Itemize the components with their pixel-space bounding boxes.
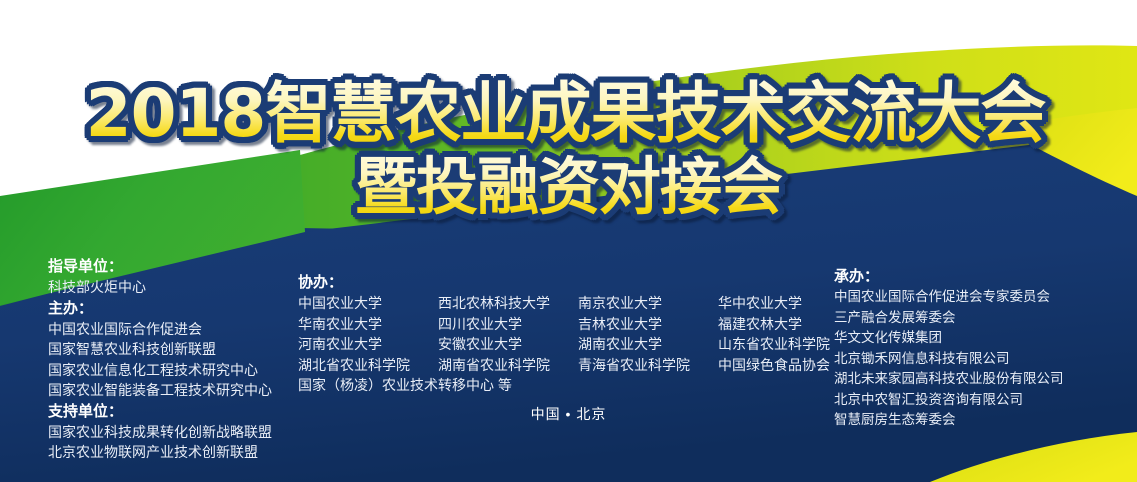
coorganizer-item: 湖北省农业科学院 <box>298 355 438 376</box>
support-item: 国家农业科技成果转化创新战略联盟 <box>48 422 272 443</box>
credits-column-coorganizers: 协办： 中国农业大学 西北农林科技大学 南京农业大学 华中农业大学 华南农业大学… <box>298 272 863 396</box>
undertaker-item: 华文文化传媒集团 <box>834 328 1064 349</box>
undertaker-item: 中国农业国际合作促进会专家委员会 <box>834 287 1064 308</box>
coorganizers-heading: 协办： <box>298 272 863 293</box>
coorganizer-item: 湖南省农业科学院 <box>438 355 578 376</box>
support-item: 北京农业物联网产业技术创新联盟 <box>48 442 272 463</box>
host-item: 国家智慧农业科技创新联盟 <box>48 339 272 360</box>
host-item: 国家农业信息化工程技术研究中心 <box>48 360 272 381</box>
coorganizer-item: 四川农业大学 <box>438 314 578 335</box>
undertaker-item: 北京锄禾网信息科技有限公司 <box>834 349 1064 370</box>
host-item: 中国农业国际合作促进会 <box>48 319 272 340</box>
undertakers-heading: 承办： <box>834 266 1064 287</box>
location-text: 中国 • 北京 <box>0 404 1137 424</box>
host-item: 国家农业智能装备工程技术研究中心 <box>48 380 272 401</box>
coorganizer-item: 西北农林科技大学 <box>438 293 578 314</box>
coorganizer-item: 湖南农业大学 <box>578 334 718 355</box>
coorganizers-grid: 中国农业大学 西北农林科技大学 南京农业大学 华中农业大学 华南农业大学 四川农… <box>298 293 863 396</box>
coorganizer-item: 南京农业大学 <box>578 293 718 314</box>
coorganizer-item: 安徽农业大学 <box>438 334 578 355</box>
coorganizer-item: 华南农业大学 <box>298 314 438 335</box>
coorganizer-item: 中国农业大学 <box>298 293 438 314</box>
credits-column-left: 指导单位： 科技部火炬中心 主办： 中国农业国际合作促进会 国家智慧农业科技创新… <box>48 256 272 463</box>
undertaker-item: 湖北未来家园高科技农业股份有限公司 <box>834 369 1064 390</box>
guidance-heading: 指导单位： <box>48 256 272 277</box>
coorganizer-item-last: 国家（杨凌）农业技术转移中心 等 <box>298 375 863 396</box>
undertaker-item: 三产融合发展筹委会 <box>834 308 1064 329</box>
coorganizer-item: 青海省农业科学院 <box>578 355 718 376</box>
host-heading: 主办： <box>48 298 272 319</box>
coorganizer-item: 吉林农业大学 <box>578 314 718 335</box>
conference-banner: 2018智慧农业成果技术交流大会 暨投融资对接会 指导单位： 科技部火炬中心 主… <box>0 0 1137 482</box>
guidance-item: 科技部火炬中心 <box>48 277 272 298</box>
coorganizer-item: 河南农业大学 <box>298 334 438 355</box>
